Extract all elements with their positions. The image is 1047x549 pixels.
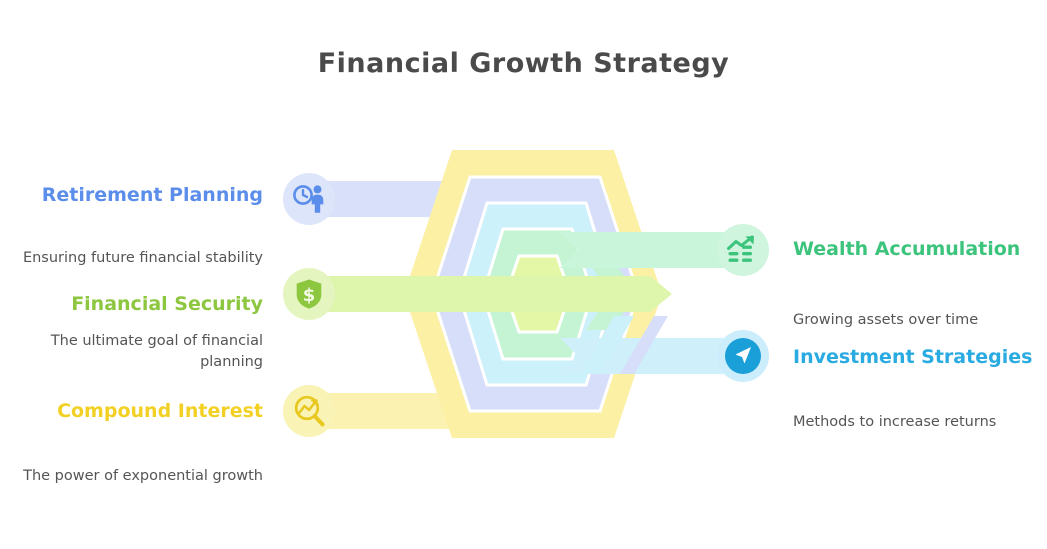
clock-person-icon [292, 184, 326, 214]
navigation-arrow-icon [721, 334, 765, 378]
badge-financial-security[interactable]: $ [283, 268, 335, 320]
badge-wealth-accumulation[interactable] [717, 224, 769, 276]
badge-compound-interest[interactable] [283, 385, 335, 437]
badge-investment-strategies[interactable] [717, 330, 769, 382]
desc-investment-strategies: Methods to increase returns [793, 412, 1043, 433]
growth-chart-icon [726, 235, 760, 265]
label-wealth-accumulation: Wealth Accumulation [793, 236, 1043, 263]
svg-text:$: $ [303, 285, 316, 306]
connector-financial-security [313, 276, 672, 312]
infographic-canvas: Financial Growth Strategy [0, 0, 1047, 549]
desc-compound-interest: The power of exponential growth [20, 466, 263, 487]
label-investment-strategies: Investment Strategies [793, 344, 1043, 371]
shield-dollar-icon: $ [295, 278, 323, 310]
desc-wealth-accumulation: Growing assets over time [793, 310, 1043, 331]
label-financial-security: Financial Security [20, 291, 263, 318]
magnifier-trend-icon [292, 394, 326, 428]
desc-financial-security: The ultimate goal of financial planning [20, 331, 263, 373]
label-compound-interest: Compound Interest [20, 398, 263, 425]
badge-retirement-planning[interactable] [283, 173, 335, 225]
label-retirement-planning: Retirement Planning [20, 182, 263, 209]
desc-retirement-planning: Ensuring future financial stability [20, 248, 263, 269]
